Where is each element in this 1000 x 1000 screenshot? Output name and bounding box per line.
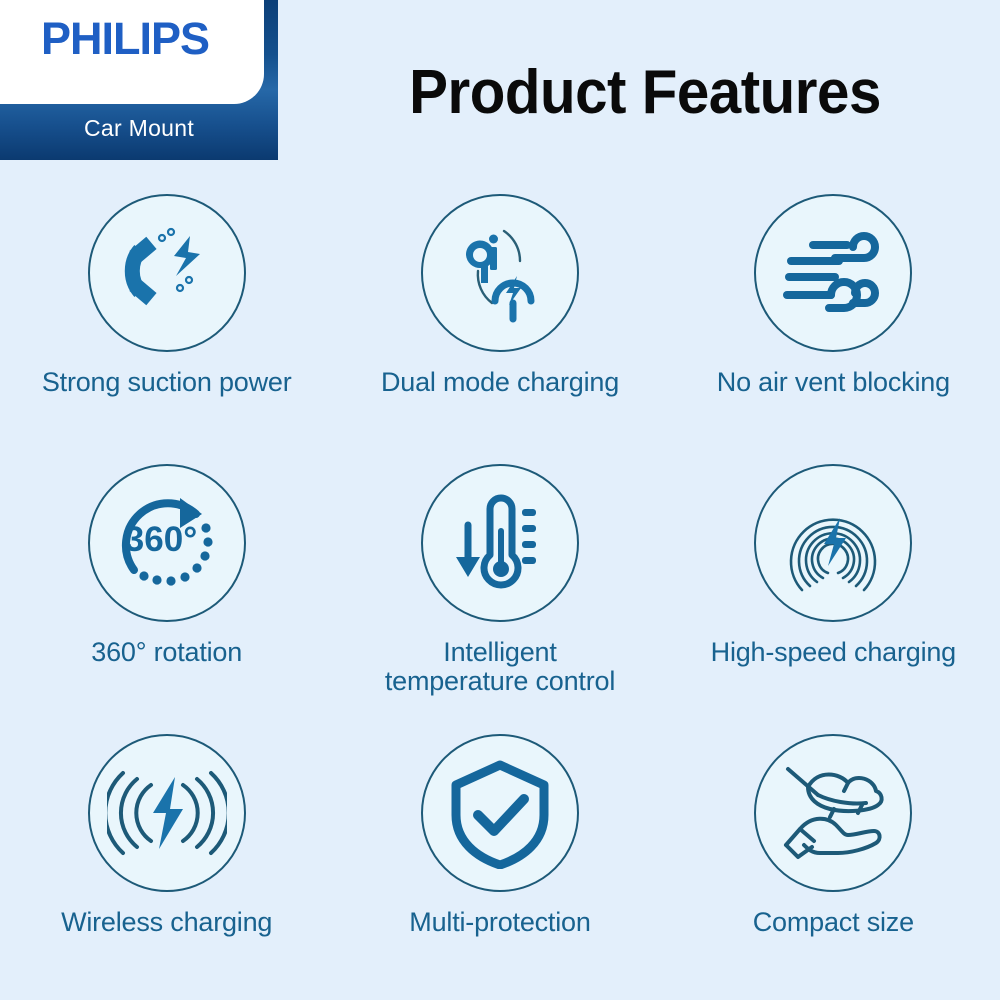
feature-label: High-speed charging — [711, 637, 956, 667]
page-title: Product Features — [321, 62, 970, 124]
feature-label: Multi-protection — [409, 907, 590, 937]
qi-dual-charging-icon — [421, 194, 579, 352]
feature-item-no-air-vent-blocking: No air vent blocking — [667, 190, 1000, 460]
brand-logo-panel: PHILIPS — [0, 0, 264, 104]
feature-caption: Intelligent temperature control — [385, 638, 615, 696]
feature-label: Dual mode charging — [381, 367, 619, 397]
feature-label: Compact size — [753, 907, 914, 937]
feature-label: Strong suction power — [42, 367, 292, 397]
feature-caption: Dual mode charging — [381, 368, 619, 397]
high-speed-charging-icon — [754, 464, 912, 622]
feature-caption: High-speed charging — [711, 638, 956, 667]
feature-item-dual-mode-charging: Dual mode charging — [333, 190, 666, 460]
feature-caption: 360° rotation — [91, 638, 242, 667]
feature-caption: Multi-protection — [409, 908, 590, 937]
magnet-icon — [88, 194, 246, 352]
feature-label-line2: temperature control — [385, 667, 615, 696]
feature-label: 360° rotation — [91, 637, 242, 667]
shield-check-icon — [421, 734, 579, 892]
air-vent-wind-icon — [754, 194, 912, 352]
feature-item-360-rotation: 360° 360° rotation — [0, 460, 333, 730]
feature-item-wireless-charging: Wireless charging — [0, 730, 333, 1000]
page-header: PHILIPS Car Mount Product Features — [0, 0, 1000, 175]
feature-item-compact-size: Compact size — [667, 730, 1000, 1000]
rotation-360-icon: 360° — [88, 464, 246, 622]
feature-caption: Strong suction power — [42, 368, 292, 397]
feature-caption: Wireless charging — [61, 908, 272, 937]
feature-item-strong-suction-power: Strong suction power — [0, 190, 333, 460]
brand-subtitle: Car Mount — [0, 117, 278, 140]
feature-label: Wireless charging — [61, 907, 272, 937]
feature-label: Intelligent — [443, 637, 556, 667]
feature-caption: No air vent blocking — [717, 368, 950, 397]
brand-block: PHILIPS Car Mount — [0, 0, 278, 160]
feature-grid: Strong suction power — [0, 190, 1000, 1000]
feature-label: No air vent blocking — [717, 367, 950, 397]
feather-hand-icon — [754, 734, 912, 892]
feature-item-multi-protection: Multi-protection — [333, 730, 666, 1000]
thermometer-icon — [421, 464, 579, 622]
philips-wordmark: PHILIPS — [0, 16, 264, 61]
feature-caption: Compact size — [753, 908, 914, 937]
rotation-360-label: 360° — [124, 520, 196, 559]
feature-item-high-speed-charging: High-speed charging — [667, 460, 1000, 730]
wireless-charging-icon — [88, 734, 246, 892]
feature-item-temperature-control: Intelligent temperature control — [333, 460, 666, 730]
